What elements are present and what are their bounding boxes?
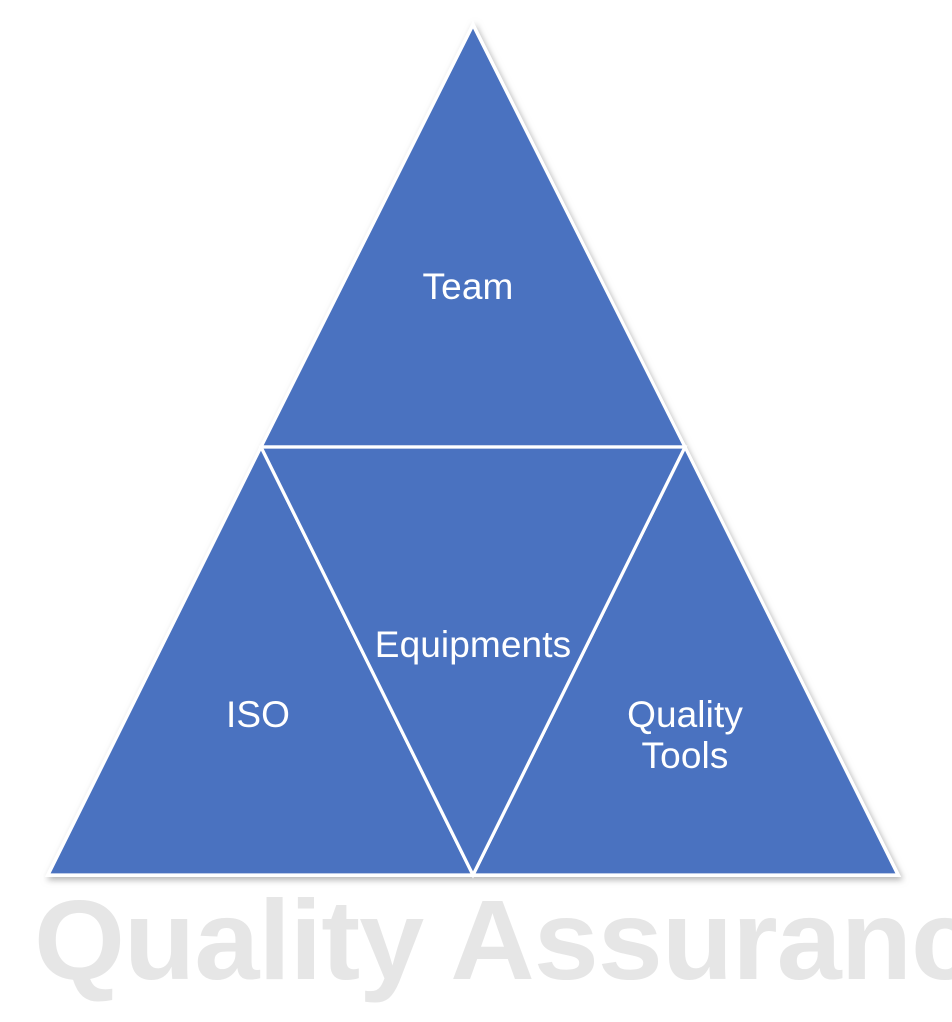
diagram-canvas: Team Equipments ISO Quality Tools Qualit…: [0, 0, 952, 1022]
segment-team-shape[interactable]: [261, 25, 685, 447]
diagram-caption: Quality Assurance: [34, 884, 949, 997]
pyramid-graphic: [0, 0, 952, 1022]
